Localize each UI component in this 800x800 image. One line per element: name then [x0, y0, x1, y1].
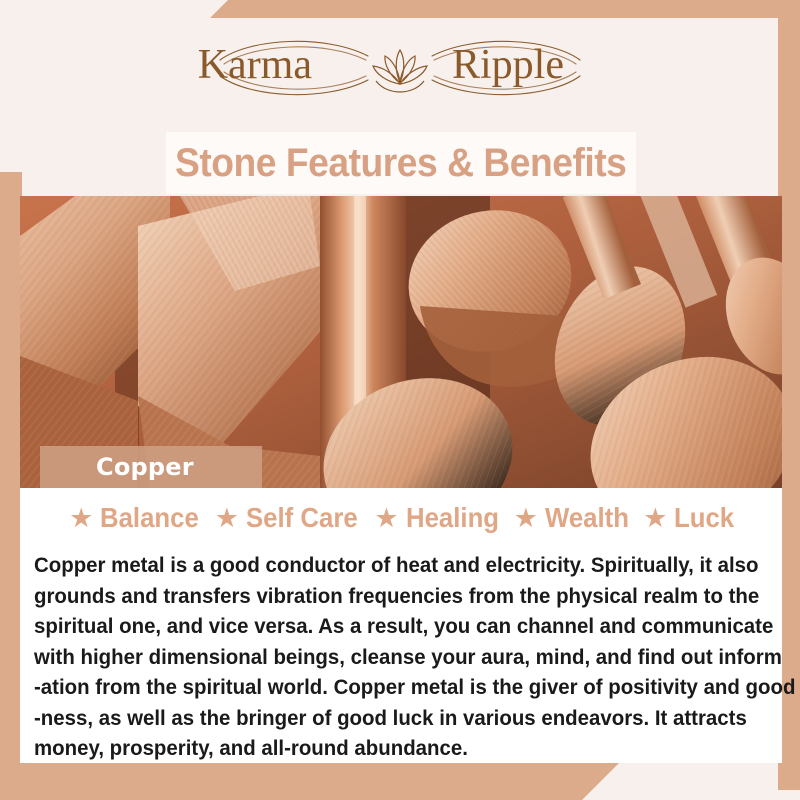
- description-text: Copper metal is a good conductor of heat…: [34, 550, 774, 764]
- description-line: grounds and transfers vibration frequenc…: [34, 581, 737, 612]
- brand-name-left: Karma: [198, 42, 313, 88]
- keyword-label: Luck: [674, 502, 734, 534]
- description-line: -ation from the spiritual world. Copper …: [34, 672, 737, 703]
- star-icon: ★: [643, 505, 667, 532]
- frame-band-bottom: [0, 762, 620, 800]
- keyword-item-wealth: ★ Wealth: [507, 502, 637, 534]
- page-title: Stone Features & Benefits: [175, 141, 626, 186]
- section-title-banner: Stone Features & Benefits: [166, 132, 636, 194]
- keyword-label: Wealth: [545, 502, 629, 534]
- content-panel: ★ Balance ★ Self Care ★ Healing ★ Wealth…: [20, 488, 782, 763]
- frame-band-top: [210, 0, 800, 18]
- description-line: spiritual one, and vice versa. As a resu…: [34, 611, 737, 642]
- hero-caption-label: Copper: [96, 453, 194, 481]
- copper-bars-illustration: [20, 196, 782, 488]
- lotus-icon: [373, 50, 427, 92]
- description-line: -ness, as well as the bringer of good lu…: [34, 703, 737, 734]
- keyword-item-balance: ★ Balance: [62, 502, 208, 534]
- keyword-label: Self Care: [246, 502, 358, 534]
- star-icon: ★: [514, 505, 538, 532]
- keyword-list: ★ Balance ★ Self Care ★ Healing ★ Wealth…: [20, 502, 782, 534]
- keyword-label: Healing: [406, 502, 499, 534]
- brand-logo-graphic: Karma Ripple: [190, 26, 610, 110]
- description-line: money, prosperity, and all-round abundan…: [34, 733, 737, 764]
- star-icon: ★: [374, 505, 398, 532]
- keyword-label: Balance: [100, 502, 199, 534]
- keyword-item-self-care: ★ Self Care: [208, 502, 368, 534]
- keyword-item-healing: ★ Healing: [367, 502, 506, 534]
- star-icon: ★: [69, 505, 93, 532]
- star-icon: ★: [215, 505, 239, 532]
- frame-band-left: [0, 172, 22, 800]
- brand-name-right: Ripple: [452, 42, 564, 88]
- brand-logo: Karma Ripple: [0, 26, 800, 110]
- hero-caption: Copper: [40, 446, 262, 488]
- keyword-item-luck: ★ Luck: [636, 502, 740, 534]
- infographic-card: Karma Ripple Stone Features & Benefits: [0, 0, 800, 800]
- hero-image: Copper: [20, 196, 782, 488]
- description-line: Copper metal is a good conductor of heat…: [34, 550, 737, 581]
- description-line: with higher dimensional beings, cleanse …: [34, 642, 737, 673]
